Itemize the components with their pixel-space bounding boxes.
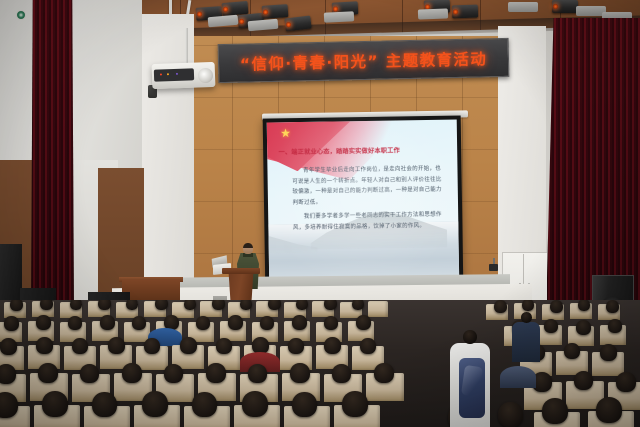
audience-head [288,338,304,354]
audience-head [596,397,622,423]
audience-head [360,338,376,354]
audience-head [290,363,310,383]
slide-paragraph: 青年学生毕业后走向工作岗位，是走向社会的开始，也可说是人生的一个转折点。年轻人对… [292,164,447,209]
audience-head [92,392,117,417]
audience-head [332,364,351,383]
audience-head [212,300,225,310]
audience-head [296,300,308,310]
audience-head [36,315,51,330]
audience-head [576,320,591,335]
audience-head [342,391,368,417]
slide-body: 青年学生毕业后走向工作岗位，是走向社会的开始，也可说是人生的一个转折点。年轻人对… [292,164,447,238]
audience-head [68,316,82,330]
audience-head [0,338,17,355]
audience-head [292,315,307,330]
audience-head [144,338,160,354]
pa-speaker-left [0,244,22,306]
audience-head [180,337,197,354]
audience-head [240,300,252,310]
stage-curtain-right [546,18,640,318]
audience-head [0,392,18,418]
audience-head [600,344,617,361]
slide-title: 一、端正就业心态，踏踏实实做好本职工作 [278,144,449,156]
audience-head [36,337,53,354]
podium-emblem-icon [16,10,26,20]
audience-head [70,300,82,310]
audience-head [616,372,636,392]
audience-shoulders [500,366,536,388]
audience-head [268,300,281,310]
slide-paragraph: 我们要多学者多学一些老同志的实干工作方法和思想作风，多培养耐得住寂寞的品格，饮掉… [293,210,447,233]
audience-head [100,315,115,330]
audience-head [10,300,23,311]
audience-head [40,300,53,310]
audience-head [352,300,364,310]
audience-head [606,300,619,313]
audience-head [248,364,267,383]
student-seated-aisle-head [521,312,532,323]
student-head [463,330,477,344]
audience-head [42,391,68,417]
audience-head [98,300,111,310]
audience-head [206,363,226,383]
audience-head [192,392,217,417]
audience-head [184,300,196,310]
audience-head [498,402,523,427]
audience-head [0,364,16,384]
audience-head [38,363,58,383]
audience-head [324,337,341,354]
projected-slide: ★ 一、端正就业心态，踏踏实实做好本职工作 青年学生毕业后走向工作岗位，是走向社… [267,120,460,287]
seat[interactable] [368,301,388,317]
stage-light-housing [418,8,448,19]
audience-head [242,391,268,417]
podium-top [222,268,260,274]
audience-head [544,319,558,333]
audience-head [522,300,534,311]
wall-camera-icon [489,264,498,271]
audience-head [132,316,146,330]
audience-seating [0,300,640,427]
audience-head [374,363,394,383]
student-seated-aisle-body [512,322,540,362]
audience-head [608,319,622,333]
audience-head [494,300,507,313]
audience-head [196,316,210,330]
audience-head [574,371,593,390]
stage-light [262,4,289,19]
audience-head [126,300,138,310]
audience-head [4,316,19,331]
led-banner: “信仰·青春·阳光” 主题教育活动 [218,38,510,83]
audience-head [164,364,183,383]
audience-head [292,392,317,417]
audience-head [142,391,168,417]
projection-screen: ★ 一、端正就业心态，踏踏实实做好本职工作 青年学生毕业后走向工作岗位，是走向社… [263,115,464,290]
audience-head [80,364,99,383]
audience-head [564,343,580,359]
projector-mount-pole [185,28,188,64]
auditorium-photo: “信仰·青春·阳光” 主题教育活动 ★ 一、端正就业心态，踏踏实实做好本职工作 … [0,0,640,427]
stage-curtain-left [31,0,74,316]
audience-head [324,300,337,310]
audience-head [260,316,274,330]
audience-head [542,398,568,424]
audience-head [324,316,338,330]
stage-side-table [122,280,180,302]
stage-light [452,5,478,19]
audience-head [578,300,590,311]
audience-head [550,300,563,313]
audience-head [228,315,243,330]
audience-head [216,338,232,354]
audience-head [72,338,88,354]
slide-star-icon: ★ [280,127,291,139]
audience-head [155,300,168,310]
audience-head [108,337,125,354]
stage-light-housing [324,11,354,23]
led-banner-text: “信仰·青春·阳光” 主题教育活动 [240,47,488,74]
stage-light-housing [508,2,538,12]
projector-panel [154,68,194,81]
audience-head [356,315,371,330]
presenter-head [243,243,253,254]
stage-light [552,0,578,13]
audience-head [122,363,142,383]
